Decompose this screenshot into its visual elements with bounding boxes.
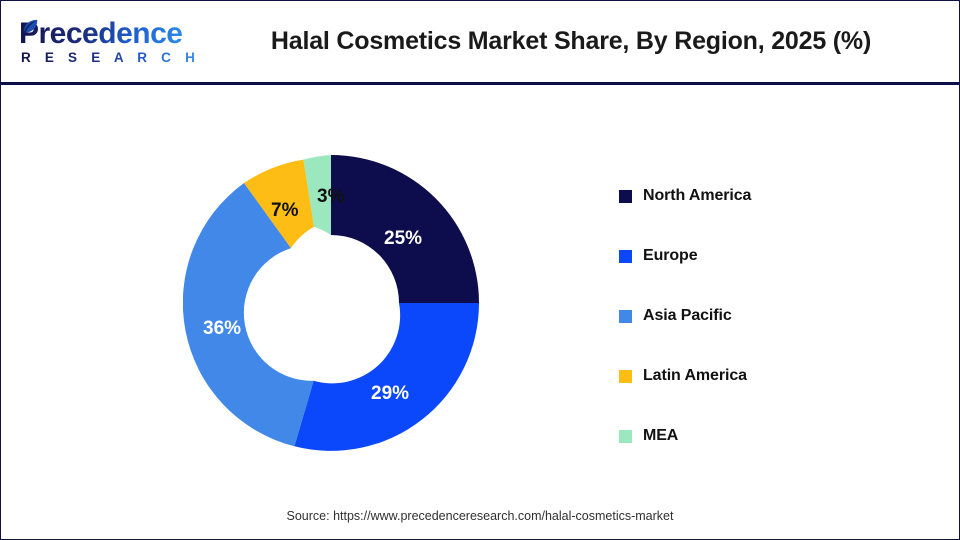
legend-label: MEA <box>643 427 678 445</box>
legend-swatch-icon <box>619 190 632 203</box>
header-bar: Precedence R E S E A R C H Halal Cosmeti… <box>1 1 959 85</box>
legend-item-europe: Europe <box>619 226 899 286</box>
slice-europe <box>294 303 479 451</box>
legend-item-north-america: North America <box>619 166 899 226</box>
legend-label: Asia Pacific <box>643 307 732 325</box>
donut-chart: 25% 29% 36% 7% 3% <box>183 155 479 451</box>
legend-swatch-icon <box>619 370 632 383</box>
chart-legend: North America Europe Asia Pacific Latin … <box>619 166 899 466</box>
legend-label: Latin America <box>643 367 747 385</box>
brand-subtitle: R E S E A R C H <box>21 50 200 66</box>
legend-swatch-icon <box>619 310 632 323</box>
legend-item-latin-america: Latin America <box>619 346 899 406</box>
slice-north-america <box>331 155 479 303</box>
source-caption: Source: https://www.precedenceresearch.c… <box>1 509 959 523</box>
legend-item-mea: MEA <box>619 406 899 466</box>
legend-label: North America <box>643 187 751 205</box>
legend-swatch-icon <box>619 250 632 263</box>
legend-label: Europe <box>643 247 698 265</box>
brand-name: Precedence <box>19 17 182 51</box>
chart-body: 25% 29% 36% 7% 3% North America Europe A… <box>1 85 959 539</box>
legend-swatch-icon <box>619 430 632 443</box>
leaf-icon <box>22 19 39 36</box>
brand-logo: Precedence R E S E A R C H <box>19 17 184 69</box>
donut-svg <box>183 155 479 451</box>
legend-item-asia-pacific: Asia Pacific <box>619 286 899 346</box>
page-title: Halal Cosmetics Market Share, By Region,… <box>191 1 951 82</box>
chart-card: Precedence R E S E A R C H Halal Cosmeti… <box>0 0 960 540</box>
